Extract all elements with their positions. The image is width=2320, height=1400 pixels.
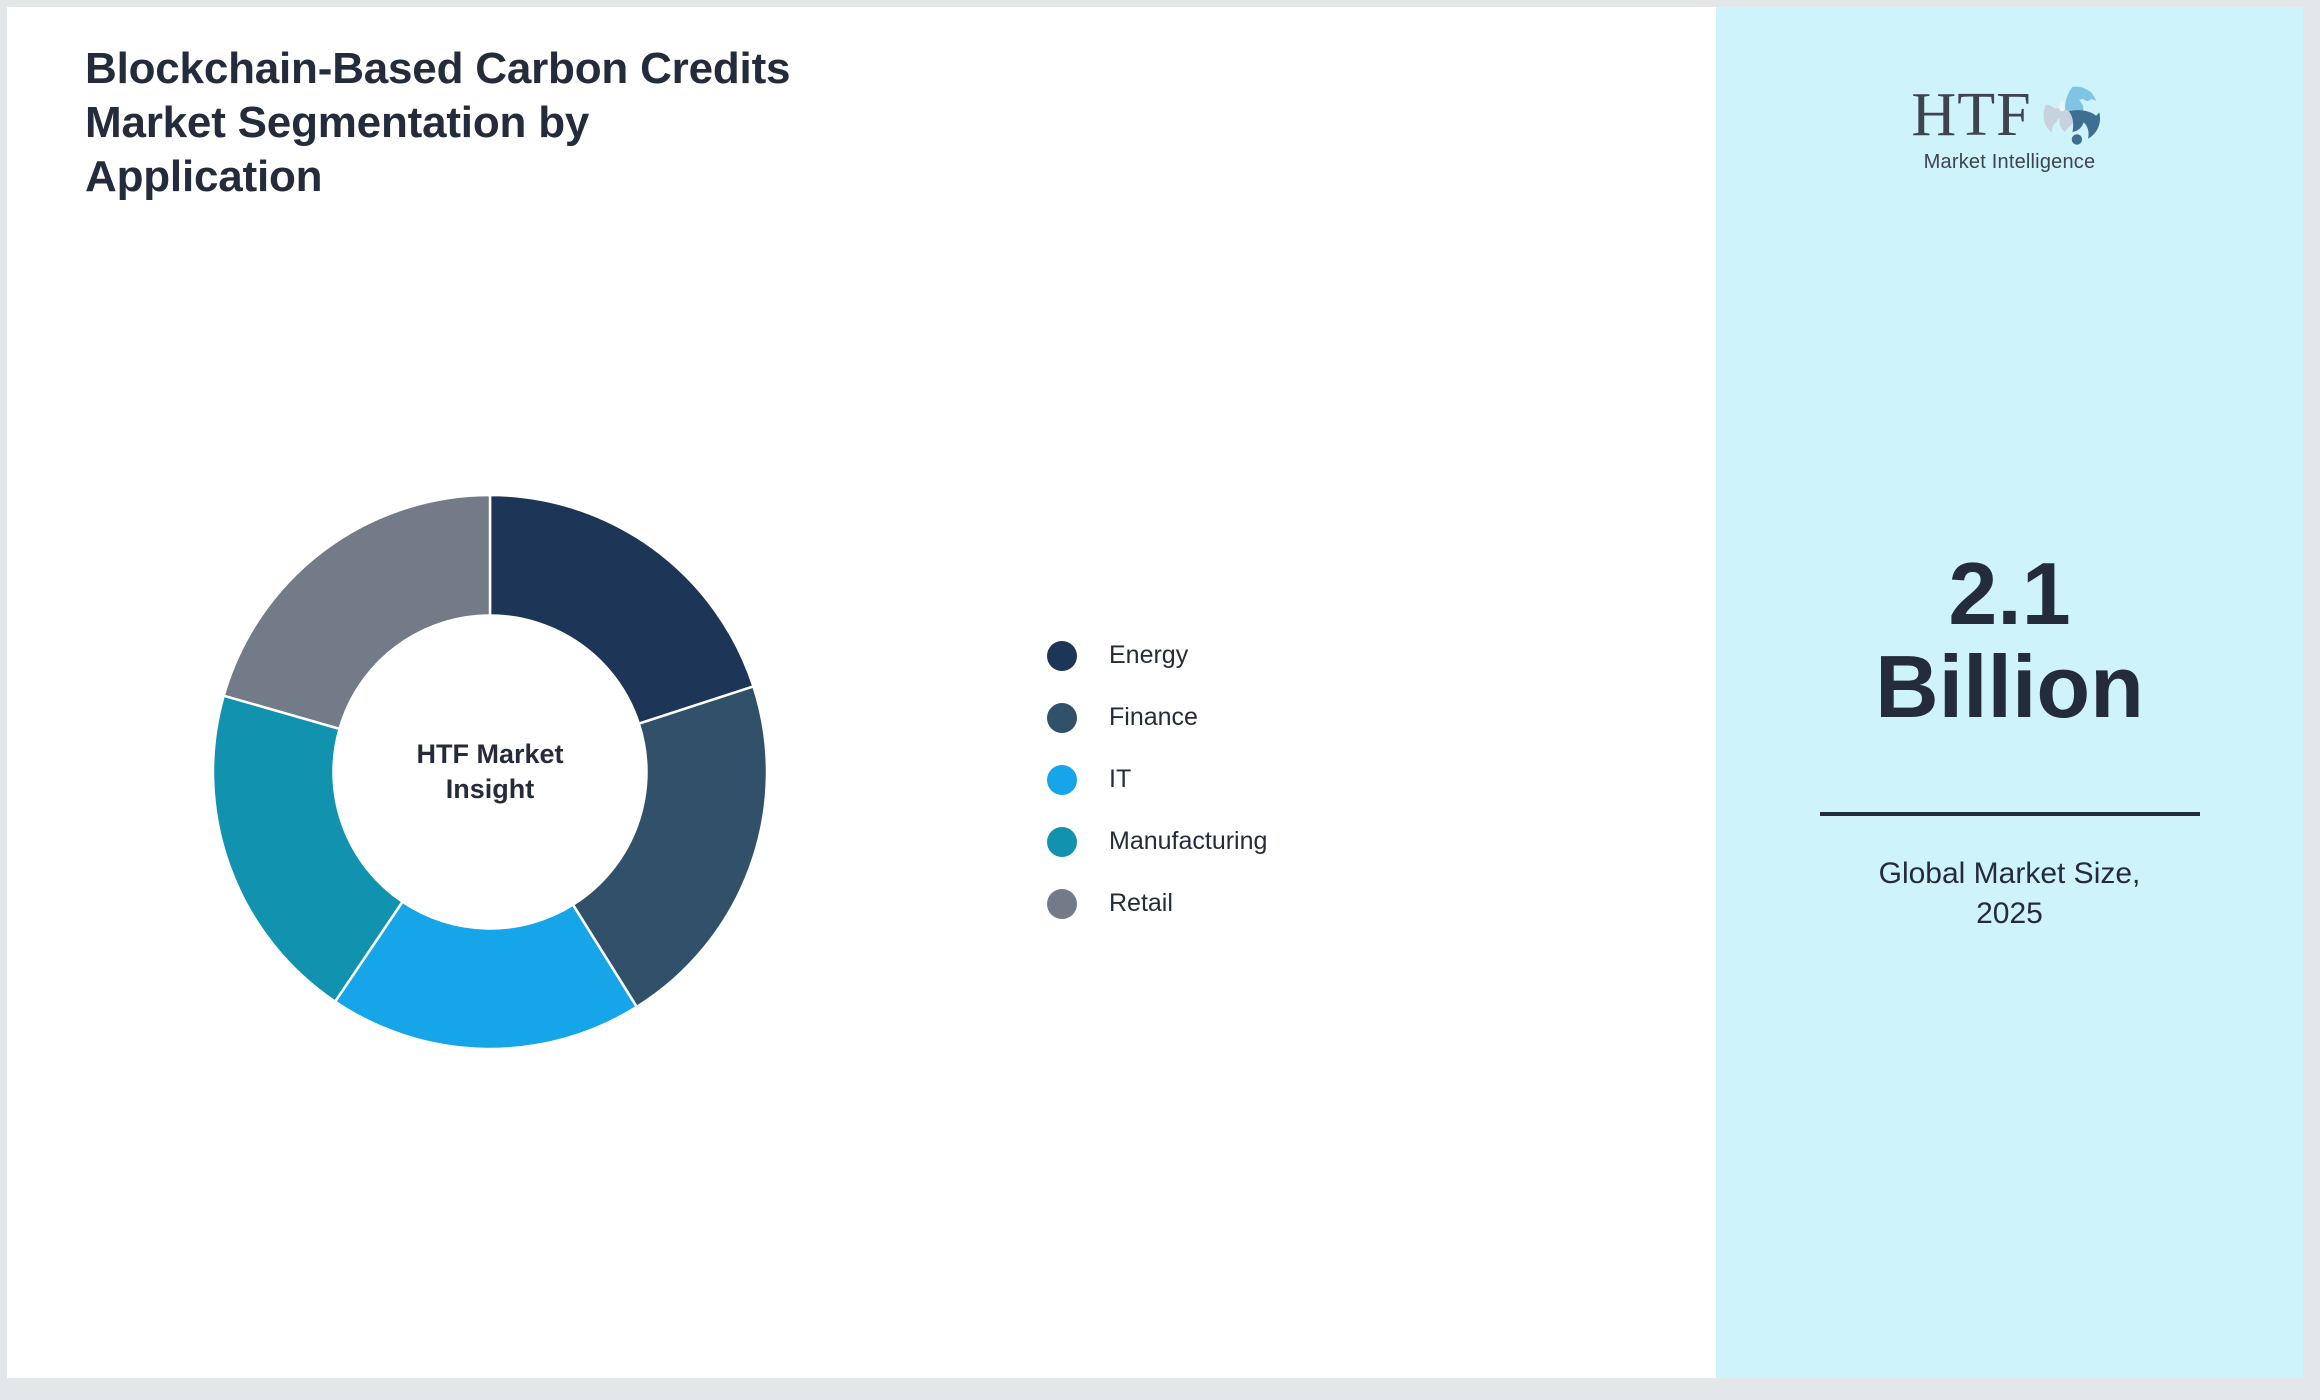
legend-swatch-icon: [1047, 765, 1077, 795]
stat-sidebar: HTF Market Intelligence 2.1: [1716, 7, 2303, 1378]
stat-value-number: 2.1: [1775, 547, 2245, 640]
legend-item[interactable]: IT: [1047, 759, 1267, 800]
market-size-stat: 2.1 Billion Global Market Size, 2025: [1775, 547, 2245, 935]
legend-item-label: Finance: [1109, 703, 1198, 732]
stat-caption-line-2: 2025: [1775, 894, 2245, 935]
brand-logo: HTF Market Intelligence: [1885, 79, 2135, 174]
stat-divider: [1820, 812, 2200, 816]
three-figures-circle-icon: [2034, 78, 2108, 152]
stat-caption-line-1: Global Market Size,: [1775, 854, 2245, 895]
legend-item-label: Manufacturing: [1109, 827, 1267, 856]
brand-logo-subtitle: Market Intelligence: [1885, 151, 2135, 174]
legend-item-label: IT: [1109, 765, 1131, 794]
donut-slice-retail[interactable]: [224, 495, 490, 729]
legend-item[interactable]: Retail: [1047, 883, 1267, 924]
legend-swatch-icon: [1047, 827, 1077, 857]
donut-chart: HTF Market Insight: [206, 488, 774, 1056]
page-title: Blockchain-Based Carbon Credits Market S…: [85, 47, 1025, 209]
donut-slice-energy[interactable]: [490, 495, 753, 724]
legend-item[interactable]: Finance: [1047, 697, 1267, 738]
legend-item[interactable]: Energy: [1047, 635, 1267, 676]
legend-item-label: Energy: [1109, 641, 1188, 670]
donut-slice-group: [213, 495, 767, 1049]
infographic-frame: Blockchain-Based Carbon Credits Market S…: [7, 7, 2303, 1378]
donut-chart-svg: [206, 488, 774, 1056]
chart-legend: EnergyFinanceITManufacturingRetail: [1047, 635, 1267, 924]
main-content-panel: Blockchain-Based Carbon Credits Market S…: [7, 7, 1716, 1378]
legend-swatch-icon: [1047, 703, 1077, 733]
stat-value-unit: Billion: [1775, 640, 2245, 733]
legend-swatch-icon: [1047, 641, 1077, 671]
legend-item[interactable]: Manufacturing: [1047, 821, 1267, 862]
legend-swatch-icon: [1047, 889, 1077, 919]
brand-logo-wordmark: HTF: [1911, 84, 2031, 146]
page-title-line-1: Blockchain-Based Carbon Credits: [85, 47, 1025, 91]
page-title-line-2: Market Segmentation by: [85, 101, 1025, 145]
legend-item-label: Retail: [1109, 889, 1173, 918]
page-title-line-3: Application: [85, 155, 1025, 199]
